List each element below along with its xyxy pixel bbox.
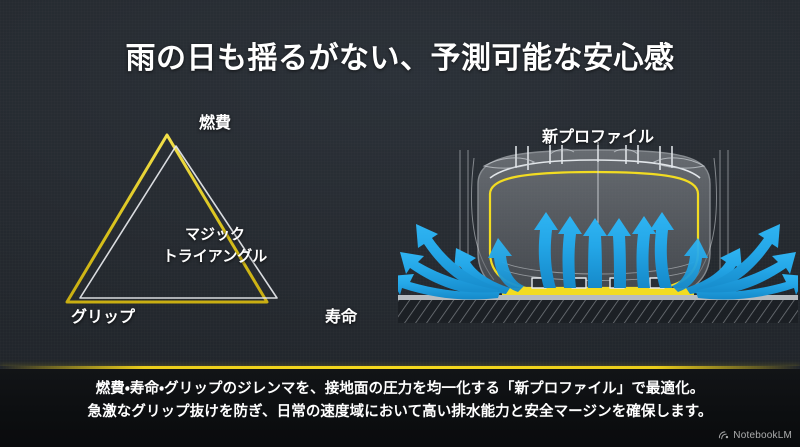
tire-contact-patch — [502, 288, 694, 295]
water-flow-arrows — [398, 212, 798, 300]
caption-text: 燃費・寿命・グリップのジレンマを、接地面の圧力を均一化する「新プロファイル」で最… — [0, 378, 800, 425]
notebooklm-watermark-label: NotebookLM — [733, 430, 792, 441]
triangle-vertex-label-left: グリップ — [71, 303, 135, 327]
caption-line-1: 燃費・寿命・グリップのジレンマを、接地面の圧力を均一化する「新プロファイル」で最… — [0, 378, 800, 401]
ground-hatching — [398, 300, 798, 323]
triangle-vertex-label-right: 寿命 — [325, 303, 357, 327]
triangle-center-line-2: トライアングル — [55, 246, 375, 268]
notebooklm-watermark: NotebookLM — [718, 430, 792, 441]
triangle-center-line-1: マジック — [55, 224, 375, 246]
tire-cross-section-graphic — [398, 112, 798, 340]
triangle-center-caption: マジック トライアングル — [55, 224, 375, 268]
notebooklm-logo-icon — [718, 430, 729, 441]
slide-root: 雨の日も揺るがない、予測可能な安心感 — [0, 0, 800, 447]
page-title: 雨の日も揺るがない、予測可能な安心感 — [0, 33, 800, 77]
magic-triangle-panel: 燃費 グリップ 寿命 マジック トライアングル — [55, 100, 375, 340]
triangle-vertex-label-top: 燃費 — [55, 109, 375, 133]
triangle-inner-white — [80, 146, 277, 298]
caption-bar: 燃費・寿命・グリップのジレンマを、接地面の圧力を均一化する「新プロファイル」で最… — [0, 369, 800, 447]
tire-profile-panel: 新プロファイル — [398, 112, 798, 340]
caption-line-2: 急激なグリップ抜けを防ぎ、日常の速度域において高い排水能力と安全マージンを確保し… — [0, 401, 800, 424]
